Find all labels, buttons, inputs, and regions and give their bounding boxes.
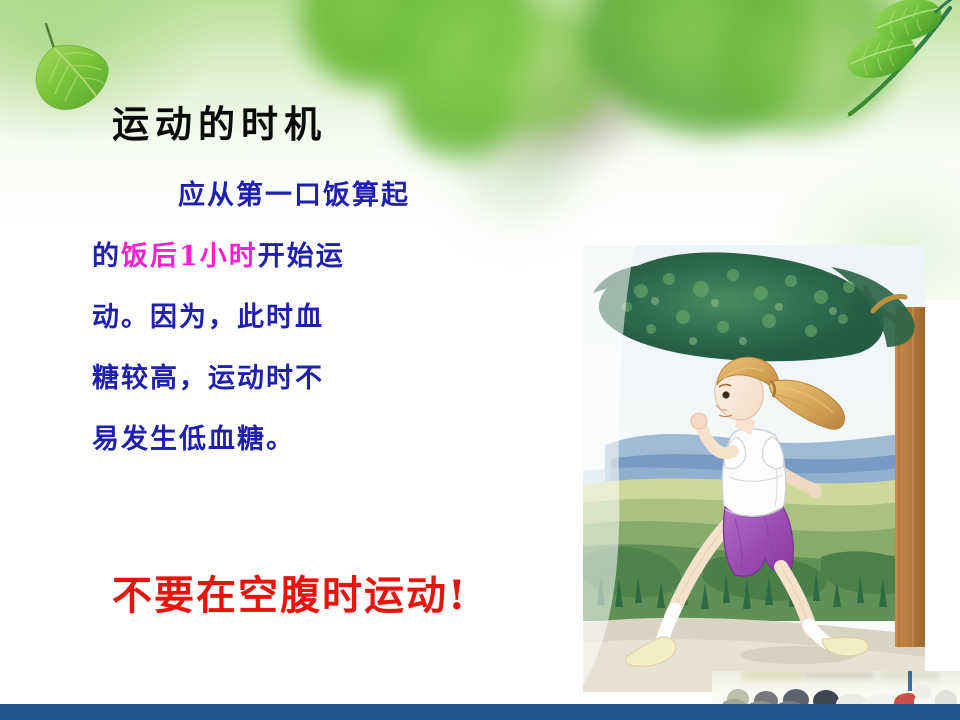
slide-canvas: 运动的时机 应从第一口饭算起 的饭后1小时开始运 动。因为，此时血 糖较高，运动…: [0, 0, 960, 720]
jogging-woman-illustration: [583, 245, 925, 692]
body-line-4: 糖较高，运动时不: [92, 348, 512, 409]
body-line-2-suffix: 开始运: [258, 241, 345, 272]
body-line-3-text: 动。因为，此时血: [92, 302, 324, 333]
warning-text: 不要在空腹时运动!: [112, 563, 468, 621]
branch-leaves-icon: [828, 0, 960, 130]
footer-bar: [0, 704, 960, 720]
body-line-1-text: 应从第一口饭算起: [178, 180, 410, 211]
body-line-1: 应从第一口饭算起: [92, 165, 512, 226]
body-line-2-prefix: 的: [92, 241, 121, 272]
body-line-5-text: 易发生低血糖。: [92, 424, 295, 455]
body-line-4-text: 糖较高，运动时不: [92, 363, 324, 394]
body-line-5: 易发生低血糖。: [92, 409, 512, 470]
body-line-2: 的饭后1小时开始运: [92, 226, 512, 287]
body-line-3: 动。因为，此时血: [92, 287, 512, 348]
page-title: 运动的时机: [112, 94, 327, 148]
body-line-2-highlight: 饭后1小时: [121, 241, 258, 272]
leaf-icon: [24, 18, 116, 118]
body-text-block: 应从第一口饭算起 的饭后1小时开始运 动。因为，此时血 糖较高，运动时不 易发生…: [92, 165, 512, 470]
